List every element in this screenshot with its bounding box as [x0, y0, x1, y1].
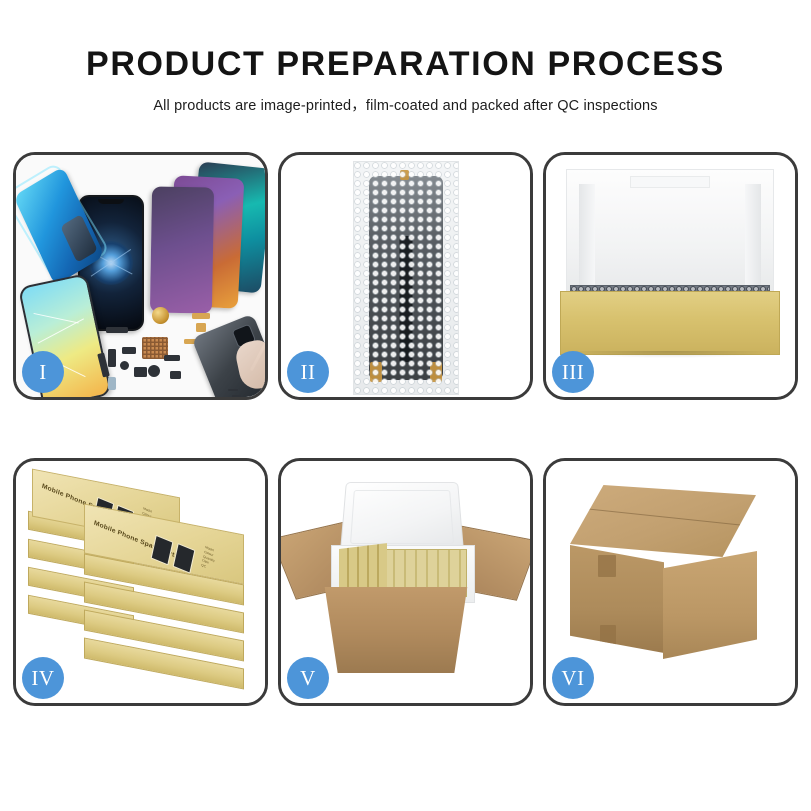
step-badge-1: I	[22, 351, 64, 393]
process-step-panel-5[interactable]: V	[278, 458, 533, 706]
step-badge-4: IV	[22, 657, 64, 699]
carton-seam	[589, 508, 748, 526]
phone-notch-icon	[98, 199, 124, 204]
carton-body-icon	[315, 587, 477, 673]
carton-tape-icon	[598, 555, 616, 577]
carton-front-left-icon	[570, 545, 664, 653]
page-title: PRODUCT PREPARATION PROCESS	[0, 0, 811, 83]
crack-line-icon	[38, 318, 84, 343]
foam-lid-icon	[340, 482, 464, 553]
earpiece-icon	[106, 327, 128, 333]
page-subtitle: All products are image-printed，film-coat…	[0, 83, 811, 115]
bubble-texture-icon	[354, 162, 458, 394]
vibrator-icon	[134, 367, 147, 377]
process-step-grid: I II	[13, 152, 798, 752]
camera-module-icon	[122, 347, 136, 354]
step-badge-2: II	[287, 351, 329, 393]
box-shadow	[566, 351, 772, 358]
speaker-module-icon	[152, 307, 169, 324]
flex-cable-icon	[108, 349, 116, 367]
crack-line-icon	[33, 313, 78, 324]
header: PRODUCT PREPARATION PROCESS All products…	[0, 0, 811, 115]
step-badge-6: VI	[552, 657, 594, 699]
carton-top-icon	[570, 485, 756, 557]
product-preparation-infographic: PRODUCT PREPARATION PROCESS All products…	[0, 0, 811, 811]
step-badge-5: V	[287, 657, 329, 699]
screw-icon	[228, 389, 238, 391]
speaker-icon	[148, 365, 160, 377]
phone-purple-icon	[150, 186, 214, 313]
bubble-wrap-bag-icon	[353, 161, 459, 395]
process-step-panel-3[interactable]: III	[543, 152, 798, 400]
process-step-panel-6[interactable]: VI	[543, 458, 798, 706]
box-screen-image	[151, 535, 174, 566]
box-lid-icon	[566, 169, 774, 299]
button-flex-icon	[170, 371, 181, 379]
process-step-panel-4[interactable]: Mobile Phone Spare Parts ModelColourQuan…	[13, 458, 268, 706]
box-stack-group: Mobile Phone Spare Parts ModelColourQuan…	[26, 477, 254, 689]
box-screen-image	[173, 543, 196, 574]
process-step-panel-1[interactable]: I	[13, 152, 268, 400]
carton-tape-icon	[600, 625, 616, 645]
box-spec-text: ModelColourQuantityDateQC	[201, 545, 218, 572]
spare-parts-group	[100, 305, 265, 397]
sim-tray-icon	[108, 377, 116, 390]
carton-front-right-icon	[663, 551, 757, 659]
lid-tab-icon	[630, 176, 710, 188]
camera-lens-icon	[120, 361, 129, 370]
step-badge-3: III	[552, 351, 594, 393]
gold-box-base-icon	[560, 291, 780, 355]
process-step-panel-2[interactable]: II	[278, 152, 533, 400]
screw-icon	[232, 395, 241, 397]
connector-icon	[164, 355, 180, 361]
flex-connector-icon	[192, 313, 210, 319]
flex-connector-icon	[196, 323, 206, 332]
